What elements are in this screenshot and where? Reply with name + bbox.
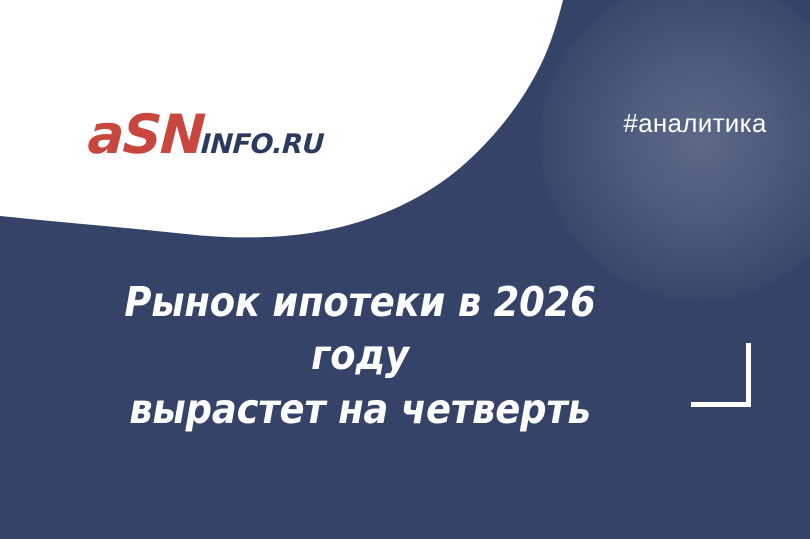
hashtag-analytics[interactable]: #аналитика [605, 108, 785, 139]
promo-card: aSN INFO.RU #аналитика Рынок ипотеки в 2… [0, 0, 810, 539]
asninfo-logo[interactable]: aSN INFO.RU [88, 108, 324, 162]
background-navy [0, 0, 810, 539]
logo-info-text: INFO.RU [200, 131, 324, 158]
page-title: Рынок ипотеки в 2026 году вырастет на че… [72, 276, 648, 436]
logo-asn-text: aSN [87, 108, 206, 162]
